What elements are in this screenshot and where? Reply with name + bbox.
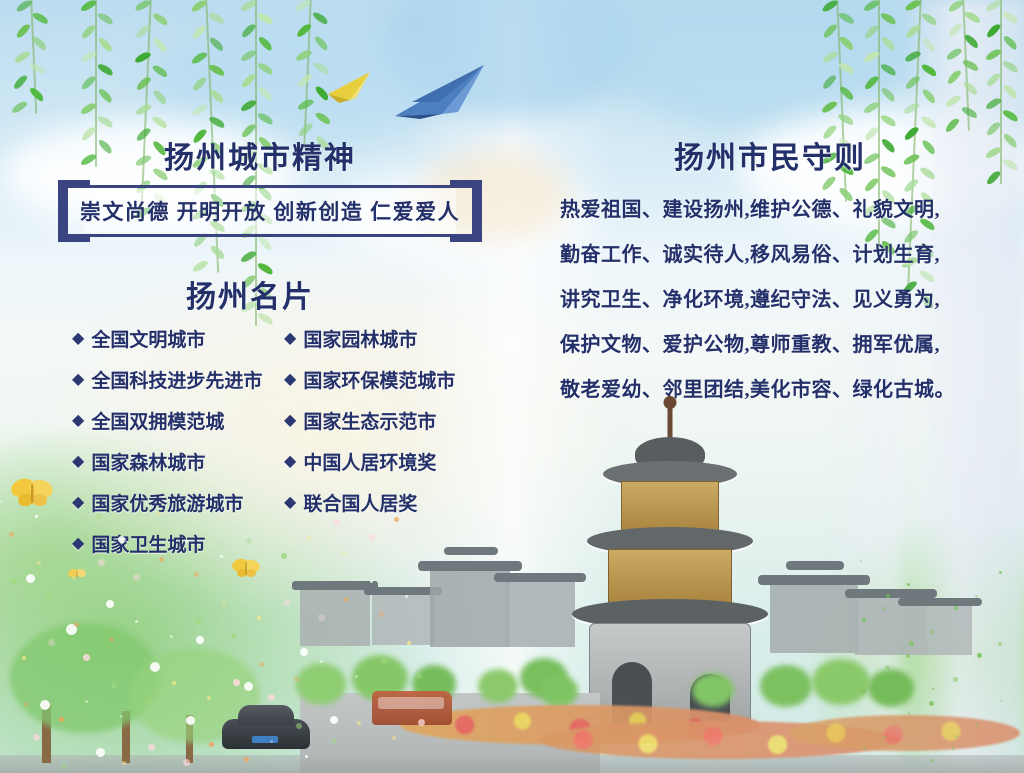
meadow-speckle [133,574,140,581]
blossom [330,716,338,724]
blossom [196,636,204,644]
diamond-bullet-icon: ◆ [72,454,84,470]
meadow-speckle [122,761,126,765]
list-item: ◆ 国家森林城市 [72,441,282,482]
list-item-label: 国家园林城市 [303,325,417,352]
willow-leaf [190,0,208,13]
page-title-city-spirit: 扬州城市精神 [0,133,520,177]
building [300,588,370,646]
willow-leaf [10,100,28,115]
meadow-speckle [22,656,26,660]
willow-leaf [821,49,839,64]
tree-crown [520,658,568,698]
meadow-speckle [244,757,249,762]
meadow-speckle [307,536,311,540]
willow-leaf [79,50,97,64]
meadow-speckle [270,740,273,743]
tree-crown [352,655,408,701]
list-item: ◆ 全国双拥模范城 [72,400,282,441]
willow-leaf [862,100,880,114]
willow-leaf [295,48,313,62]
willow-leaf [97,62,115,77]
willow-leaf [15,0,33,13]
pagoda-roof-top [635,437,705,471]
list-item-label: 全国科技进步先进市 [91,366,262,393]
city-cards-column-left: ◆ 全国文明城市 ◆ 全国科技进步先进市 ◆ 全国双拥模范城 ◆ 国家森林城市 … [72,318,282,564]
willow-leaf [295,22,313,38]
willow-leaf [207,11,225,26]
willow-leaf [296,72,314,88]
building [430,569,510,647]
list-item: ◆ 国家园林城市 [284,318,502,359]
blossom [186,716,195,725]
diamond-bullet-icon: ◆ [72,372,84,388]
willow-leaf [257,60,275,75]
willow-leaf [97,35,113,52]
butterfly-icon [68,568,86,582]
diamond-bullet-icon: ◆ [72,536,84,552]
blossom [96,748,105,757]
bus [372,691,452,725]
willow-leaf [240,22,257,39]
list-item-label: 全国双拥模范城 [91,407,224,434]
willow-leaf [880,35,896,52]
list-item-label: 国家生态示范市 [303,407,436,434]
pagoda-eave-mid [587,527,753,555]
building-roof [418,561,522,571]
pagoda-base [589,623,751,733]
willow-leaf [257,85,273,102]
meadow-speckle [370,580,373,583]
meadow-speckle [148,744,155,751]
meadow-speckle [37,561,41,565]
meadow-speckle [9,532,14,537]
meadow-speckle [342,551,346,555]
meadow-speckle [0,500,3,503]
willow-leaf [240,72,257,89]
willow-leaf [208,35,225,52]
diamond-bullet-icon: ◆ [72,413,84,429]
willow-leaf [314,110,332,126]
willow-leaf [239,49,257,63]
meadow-speckle [259,662,264,667]
willow-leaf [838,10,856,25]
list-item: ◆ 国家生态示范市 [284,400,502,441]
willow-stem [303,0,312,149]
willow-leaf [151,115,169,131]
meadow-speckle [61,763,67,769]
meadow-speckle [33,734,40,741]
motto-banner: 崇文尚德 开明开放 创新创造 仁爱爱人 [58,180,482,242]
willow-leaf [838,34,855,51]
willow-leaf [239,99,257,113]
willow-leaf [97,113,115,128]
tree-crown [412,665,456,703]
building-roof [364,587,442,595]
willow-leaf [14,23,31,40]
pagoda-body-lower [608,549,732,607]
motto-text: 崇文尚德 开明开放 创新创造 仁爱爱人 [58,180,482,242]
tree-crown [760,665,812,707]
willow-leaf [880,62,898,77]
building [505,581,575,647]
willow-leaf [880,11,898,26]
bus-window [378,697,444,709]
meadow-speckle [194,572,199,577]
meadow-speckle [296,723,302,729]
willow-leaf [838,85,855,102]
meadow-speckle [407,641,411,645]
pagoda-wenchang [560,403,780,733]
willow-leaf [12,74,29,91]
building-roof [494,573,586,582]
list-item-label: 国家环保模范城市 [303,366,455,393]
meadow-speckle [35,515,38,518]
section-title-city-cards: 扬州名片 [0,272,500,316]
tree-crown [130,648,260,743]
list-item: ◆ 全国文明城市 [72,318,282,359]
list-item-label: 国家优秀旅游城市 [91,489,243,516]
meadow-speckle [233,679,240,686]
pagoda-arch [690,674,730,732]
meadow-speckle [59,717,64,722]
meadow-speckle [231,633,237,639]
willow-leaf [863,23,880,40]
meadow-speckle [416,673,422,679]
meadow-speckle [418,719,425,726]
willow-leaf [151,63,169,79]
willow-leaf [152,88,168,106]
willow-leaf [821,23,838,40]
blossom [66,624,77,635]
meadow-speckle [392,736,396,740]
meadow-speckle [183,759,190,766]
willow-leaf [208,115,226,130]
willow-leaf [863,74,880,91]
meadow-speckle [111,683,117,689]
willow-leaf [80,23,97,40]
car-plate [252,736,278,743]
meadow-speckle [222,601,226,605]
blossom [300,648,308,656]
pagoda-eave-top [603,461,737,487]
diamond-bullet-icon: ◆ [72,331,84,347]
willow-leaf [134,0,152,12]
willow-leaf [134,102,152,116]
meadow-speckle [268,694,275,701]
pagoda-arch [612,662,652,732]
diamond-bullet-icon: ◆ [284,331,296,347]
building-roof [292,581,378,590]
willow-stem [30,0,37,114]
willow-leaf [862,0,880,13]
tree-crown [540,675,578,707]
tree-crown [692,673,734,707]
willow-leaf [79,0,97,13]
willow-leaf [134,75,152,91]
meadow-speckle [48,639,55,646]
willow-leaf [134,23,152,39]
meadow-speckle [72,576,76,580]
meadow-speckle [172,681,176,685]
willow-leaf [880,86,896,103]
meadow-speckle [379,612,384,617]
section-title-citizen-code: 扬州市民守则 [540,133,1000,177]
meadow-speckle [344,597,349,602]
meadow-speckle [320,660,323,663]
willow-leaf [29,85,46,102]
willow-leaf [151,11,169,27]
list-item: ◆ 国家卫生城市 [72,523,282,564]
blossom [106,600,114,608]
willow-leaf [862,49,880,63]
willow-leaf [257,111,275,126]
list-item-label: 国家卫生城市 [91,530,205,557]
willow-leaf [209,244,226,261]
diamond-bullet-icon: ◆ [284,495,296,511]
car-roof [238,705,294,725]
willow-leaf [821,0,839,13]
willow-leaf [239,0,257,13]
meadow-speckle [120,715,123,718]
meadow-speckle [11,578,17,584]
list-item: ◆ 国家优秀旅游城市 [72,482,282,523]
blossom [150,662,160,672]
willow-leaf [313,34,329,52]
willow-leaf [208,88,225,105]
meadow-speckle [109,637,114,642]
list-item: ◆ 国家环保模范城市 [284,359,502,400]
willow-leaf [80,74,97,91]
willow-leaf [239,249,257,263]
building-roof [444,547,498,555]
meadow-speckle [305,755,308,758]
meadow-speckle [405,595,408,598]
willow-leaf [257,34,273,51]
pagoda-eave-base [572,599,768,629]
poster-canvas: 扬州城市精神 崇文尚德 开明开放 创新创造 仁爱爱人 扬州名片 ◆ 全国文明城市… [0,0,1024,773]
willow-leaf [294,0,312,12]
willow-leaf [191,23,208,40]
sky-blob [600,0,920,130]
willow-leaf [191,103,209,118]
tree-crown [478,669,518,703]
willow-leaf [296,98,314,112]
meadow-speckle [24,702,29,707]
willow-leaf [207,63,225,78]
code-line: 热爱祖国、建设扬州,维护公德、礼貌文明, [560,188,980,233]
list-item-label: 国家森林城市 [91,448,205,475]
tree-crown [296,663,346,705]
paper-plane-blue-icon [392,62,488,120]
willow-leaf [838,61,856,76]
willow-leaf [880,113,898,128]
willow-leaf [190,50,208,65]
diamond-bullet-icon: ◆ [72,495,84,511]
meadow-speckle [170,635,173,638]
butterfly-icon [10,477,54,509]
list-item: ◆ 全国科技进步先进市 [72,359,282,400]
pagoda-body-upper [621,481,719,535]
meadow-speckle [207,696,211,700]
blossom [26,574,35,583]
meadow-speckle [357,721,361,725]
building [372,593,434,645]
list-item: ◆ 联合国人居奖 [284,482,502,523]
meadow-speckle [146,698,152,704]
flowerbed [400,705,760,745]
meadow-speckle [381,658,387,664]
willow-leaf [821,73,838,90]
city-cards-column-right: ◆ 国家园林城市 ◆ 国家环保模范城市 ◆ 国家生态示范市 ◆ 中国人居环境奖 … [284,318,502,523]
meadow-speckle [257,616,261,620]
willow-leaf [257,10,275,25]
code-line: 讲究卫生、净化环境,遵纪守法、见义勇为, [560,278,980,323]
meadow-speckle [355,675,358,678]
blossom [40,700,50,710]
code-line: 勤奋工作、诚实待人,移风易俗、计划生育, [560,233,980,278]
list-item-label: 全国文明城市 [91,325,205,352]
meadow-speckle [196,618,202,624]
willow-leaf [820,100,838,115]
meadow-speckle [135,620,138,623]
meadow-speckle [83,654,90,661]
willow-leaf [31,10,49,25]
list-item: ◆ 中国人居环境奖 [284,441,502,482]
willow-leaf [29,61,47,76]
meadow-speckle [209,742,214,747]
willow-leaf [97,11,115,26]
tree-crown [10,623,160,733]
meadow-speckle [85,700,88,703]
willow-leaf [191,75,208,92]
citizen-code-text: 热爱祖国、建设扬州,维护公德、礼貌文明, 勤奋工作、诚实待人,移风易俗、计划生育… [560,188,980,413]
meadow-speckle [46,593,52,599]
willow-leaf [837,111,855,126]
list-item-label: 联合国人居奖 [303,489,417,516]
meadow-speckle [318,614,325,621]
diamond-bullet-icon: ◆ [284,413,296,429]
code-line: 敬老爱幼、邻里团结,美化市容、绿化古城。 [560,368,980,413]
blossom [118,536,125,543]
meadow-speckle [368,534,375,541]
blossom [244,682,253,691]
diamond-bullet-icon: ◆ [284,454,296,470]
meadow-speckle [331,738,337,744]
willow-leaf [134,50,152,64]
tree-trunk [42,705,51,763]
willow-leaf [79,101,97,115]
willow-leaf [13,49,31,64]
willow-leaf [97,87,113,104]
paper-plane-yellow-icon [326,70,372,104]
car [222,719,310,749]
road [300,693,600,773]
meadow-speckle [283,599,290,606]
code-line: 保护文物、爱护公物,尊师重教、拥军优属, [560,323,980,368]
diamond-bullet-icon: ◆ [284,372,296,388]
meadow-speckle [294,677,299,682]
willow-leaf [31,35,48,52]
list-item-label: 中国人居环境奖 [303,448,436,475]
willow-leaf [152,36,168,54]
willow-leaf [311,10,329,26]
tree-trunk [122,711,130,763]
